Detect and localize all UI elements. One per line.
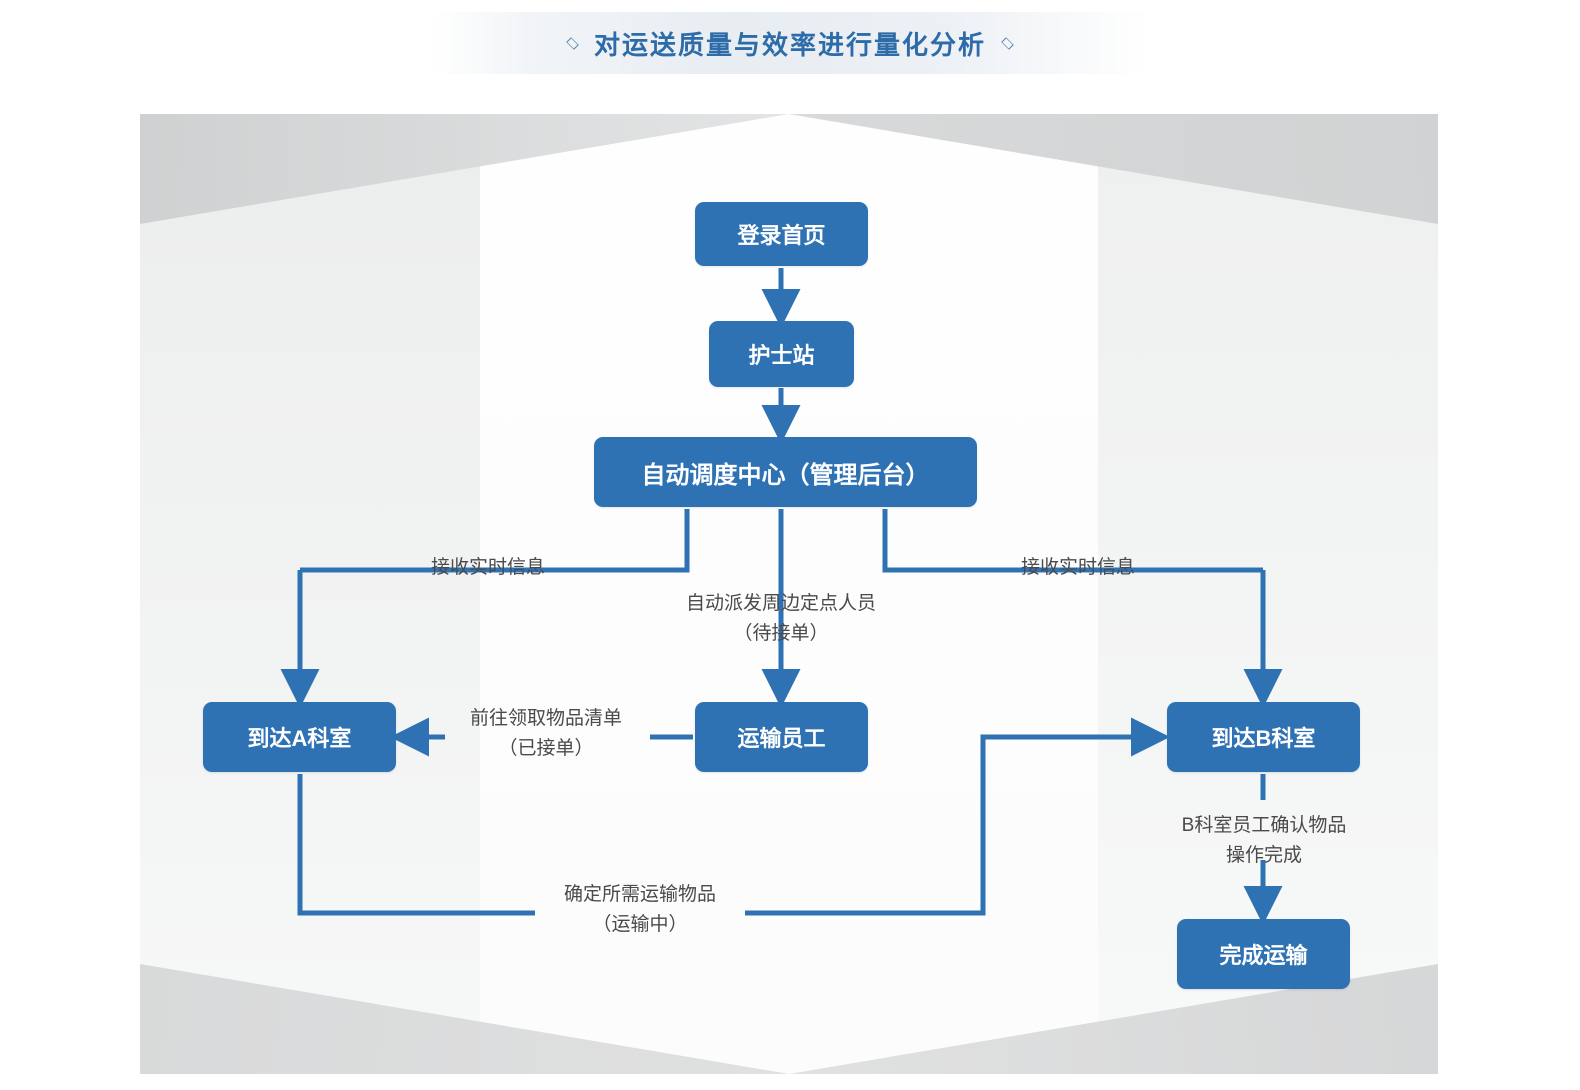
edge-label-line1: 确定所需运输物品 <box>543 880 737 910</box>
node-arrive-dept-a[interactable]: 到达A科室 <box>203 702 396 772</box>
flowchart-page: 对运送质量与效率进行量化分析 <box>0 0 1580 1090</box>
edge-label-line1: 前往领取物品清单 <box>451 704 641 734</box>
page-title-bar: 对运送质量与效率进行量化分析 <box>430 12 1150 74</box>
diamond-right-icon <box>1001 37 1014 50</box>
edge-label-line2: （已接单） <box>451 734 641 764</box>
edge-label-receive-realtime-right: 接收实时信息 <box>1000 553 1156 583</box>
edge-label-line1: B科室员工确认物品 <box>1155 811 1373 841</box>
node-transport-staff[interactable]: 运输员工 <box>695 702 868 772</box>
edge-label-pickup-list: 前往领取物品清单 （已接单） <box>451 704 641 764</box>
edge-label-line2: （运输中） <box>543 910 737 940</box>
edge-label-line2: 操作完成 <box>1155 841 1373 871</box>
node-login-home[interactable]: 登录首页 <box>695 202 868 266</box>
diamond-left-icon <box>566 37 579 50</box>
edge-label-line2: （待接单） <box>657 619 905 649</box>
page-title: 对运送质量与效率进行量化分析 <box>594 25 986 62</box>
edge-label-line1: 接收实时信息 <box>1000 553 1156 583</box>
node-dispatch-center[interactable]: 自动调度中心（管理后台） <box>594 437 977 507</box>
edge-label-confirm-goods: 确定所需运输物品 （运输中） <box>543 880 737 940</box>
node-nurse-station[interactable]: 护士站 <box>709 321 854 387</box>
edge-label-line1: 自动派发周边定点人员 <box>657 589 905 619</box>
edge-label-receive-realtime-left: 接收实时信息 <box>410 553 566 583</box>
edge-label-dept-b-confirm: B科室员工确认物品 操作完成 <box>1155 811 1373 871</box>
edge-label-line1: 接收实时信息 <box>410 553 566 583</box>
edge-label-auto-dispatch: 自动派发周边定点人员 （待接单） <box>657 589 905 649</box>
node-arrive-dept-b[interactable]: 到达B科室 <box>1167 702 1360 772</box>
node-transport-complete[interactable]: 完成运输 <box>1177 919 1350 989</box>
